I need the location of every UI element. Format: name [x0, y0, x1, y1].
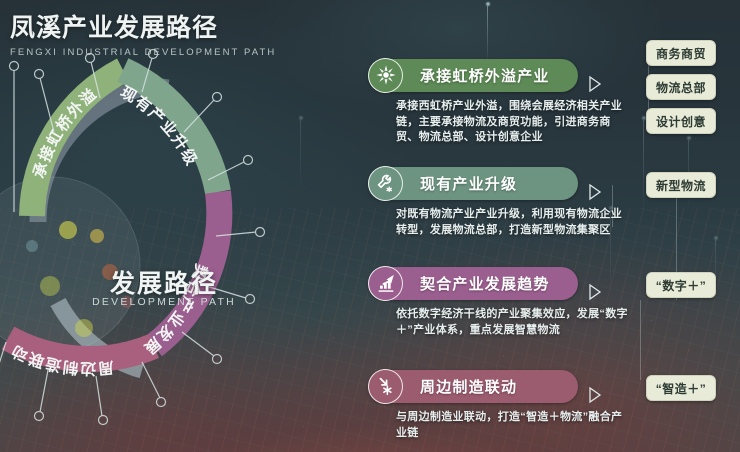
diagram-center-subtitle: DEVELOPMENT PATH	[84, 296, 244, 308]
path-card-4[interactable]: 周边制造联动 与周边制造业联动，打造“智造＋物流”融合产业链	[368, 369, 636, 441]
wrench-icon	[368, 166, 403, 201]
path-card-2[interactable]: 现有产业升级 对既有物流产业产业升级，利用现有物流企业转型，发展物流总部，打造新…	[368, 166, 636, 238]
card-2-pill[interactable]: 现有产业升级	[368, 167, 578, 200]
connector-line	[640, 300, 641, 380]
page-title: 凤溪产业发展路径	[10, 8, 276, 44]
sunburst-icon	[368, 58, 403, 93]
inbound-arrow-icon	[368, 369, 403, 404]
tag-smart-mfg-plus[interactable]: “智造＋”	[646, 375, 716, 401]
card-3-description: 依托数字经济干线的产业聚集效应，发展“数字＋”产业体系，重点发展智慧物流	[396, 307, 632, 338]
card-1-pill[interactable]: 承接虹桥外溢产业	[368, 59, 578, 92]
development-path-diagram: 承接虹桥外溢 现有产业升级 契合产业发展 周边制造联动	[0, 40, 392, 452]
path-card-3[interactable]: 契合产业发展趋势 依托数字经济干线的产业聚集效应，发展“数字＋”产业体系，重点发…	[368, 266, 636, 338]
slide-canvas: 凤溪产业发展路径 FENGXI INDUSTRIAL DEVELOPMENT P…	[0, 0, 740, 452]
card-4-pill[interactable]: 周边制造联动	[368, 370, 578, 403]
card-2-description: 对既有物流产业产业升级，利用现有物流企业转型，发展物流总部，打造新型物流集聚区	[396, 207, 632, 238]
light-beam	[643, 120, 644, 215]
light-beam	[487, 6, 488, 66]
tag-design-creative[interactable]: 设计创意	[646, 108, 716, 134]
tag-logistics-hq[interactable]: 物流总部	[646, 74, 716, 100]
path-card-1[interactable]: 承接虹桥外溢产业 承接西虹桥产业外溢，围绕会展经济相关产业链，主要承接物流及商贸…	[368, 58, 636, 146]
growth-arrow-icon	[368, 266, 403, 301]
tag-business-trade[interactable]: 商务商贸	[646, 40, 716, 66]
card-3-pill[interactable]: 契合产业发展趋势	[368, 267, 578, 300]
tag-new-logistics[interactable]: 新型物流	[646, 172, 716, 198]
diagram-center-title: 发展路径	[84, 264, 244, 300]
tag-digital-plus[interactable]: “数字＋”	[646, 272, 716, 298]
card-4-description: 与周边制造业联动，打造“智造＋物流”融合产业链	[396, 410, 632, 441]
card-1-description: 承接西虹桥产业外溢，围绕会展经济相关产业链，主要承接物流及商贸功能，引进商务商贸…	[396, 99, 632, 146]
